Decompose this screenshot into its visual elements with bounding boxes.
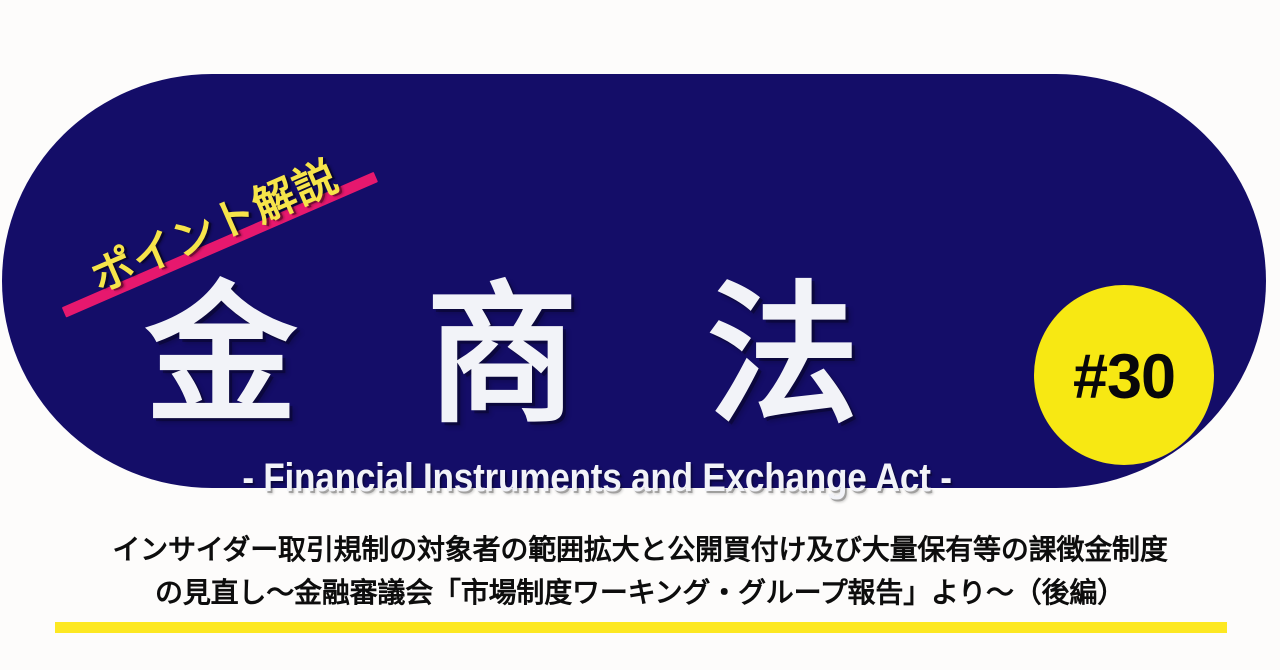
issue-number-badge: #30 bbox=[1034, 285, 1214, 465]
article-header-card: ポイント解説 金 商 法 - Financial Instruments and… bbox=[0, 0, 1280, 670]
issue-number-label: #30 bbox=[1073, 346, 1175, 409]
caption-line-2: の見直し〜金融審議会「市場制度ワーキング・グループ報告」より〜（後編） bbox=[0, 571, 1280, 614]
page-subtitle: - Financial Instruments and Exchange Act… bbox=[73, 457, 1120, 499]
caption-line-1: インサイダー取引規制の対象者の範囲拡大と公開買付け及び大量保有等の課徴金制度 bbox=[0, 528, 1280, 571]
page-title: 金 商 法 bbox=[2, 278, 1002, 433]
article-caption: インサイダー取引規制の対象者の範囲拡大と公開買付け及び大量保有等の課徴金制度 の… bbox=[0, 528, 1280, 615]
banner-panel: ポイント解説 金 商 法 - Financial Instruments and… bbox=[2, 74, 1266, 488]
bottom-accent-rule bbox=[55, 622, 1227, 633]
